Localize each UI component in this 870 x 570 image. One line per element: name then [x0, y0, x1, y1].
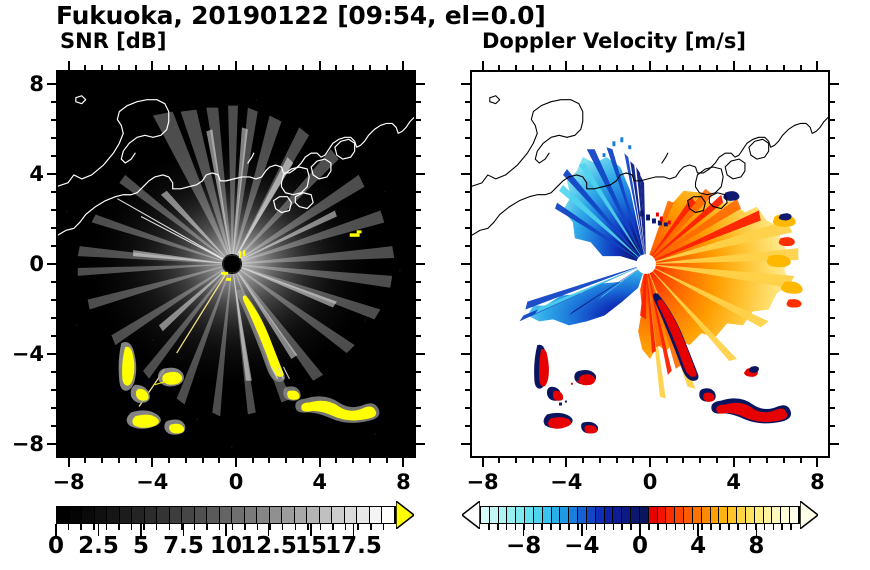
- colorbar-snr-ticklabel: 2.5: [78, 533, 119, 559]
- ytick-minor-left: [465, 281, 470, 283]
- colorbar-snr-minor-tick: [282, 524, 284, 530]
- colorbar-doppler-minor-tick: [488, 524, 490, 530]
- colorbar-doppler-minor-tick: [781, 524, 783, 530]
- ytick-minor-right: [830, 425, 835, 427]
- ytick-major-left: [461, 353, 470, 355]
- xtick-minor-top: [783, 65, 785, 70]
- colorbar-snr-minor-tick: [194, 524, 196, 530]
- colorbar-snr-minor-tick: [320, 524, 322, 530]
- colorbar-doppler-minor-tick: [675, 524, 677, 530]
- ytick-minor-left: [51, 281, 56, 283]
- colorbar-cell: [357, 507, 370, 523]
- colorbar-doppler-minor-tick: [728, 524, 730, 530]
- colorbar-cell: [640, 507, 649, 523]
- colorbar-cell: [332, 507, 345, 523]
- yticklabel: −8: [0, 432, 44, 456]
- xticklabel: −4: [136, 470, 168, 494]
- xtick-minor-top: [599, 65, 601, 70]
- xtick-minor-bottom: [352, 458, 354, 463]
- ytick-minor-right: [416, 389, 421, 391]
- yticklabel: 0: [0, 252, 44, 276]
- ytick-minor-left: [51, 425, 56, 427]
- xtick-minor-top: [616, 65, 618, 70]
- colorbar-doppler-minor-tick: [533, 524, 535, 530]
- ytick-minor-left: [465, 299, 470, 301]
- ytick-minor-left: [465, 155, 470, 157]
- colorbar-cell: [596, 507, 605, 523]
- xtick-major-bottom: [649, 458, 651, 467]
- ytick-minor-left: [51, 299, 56, 301]
- ytick-minor-left: [51, 389, 56, 391]
- colorbar-snr-minor-tick: [232, 524, 234, 530]
- ytick-minor-left: [465, 407, 470, 409]
- xtick-minor-top: [682, 65, 684, 70]
- colorbar-cell: [245, 507, 258, 523]
- xtick-minor-bottom: [616, 458, 618, 463]
- ytick-minor-left: [51, 191, 56, 193]
- xtick-minor-bottom: [532, 458, 534, 463]
- colorbar-cell: [746, 507, 755, 523]
- ytick-major-right: [830, 353, 839, 355]
- colorbar-cell: [693, 507, 702, 523]
- ytick-minor-left: [465, 371, 470, 373]
- colorbar-snr-ticklabel: 12.5: [240, 533, 297, 559]
- xtick-minor-top: [699, 65, 701, 70]
- ytick-minor-right: [416, 101, 421, 103]
- colorbar-doppler-minor-tick: [684, 524, 686, 530]
- colorbar-snr-minor-tick: [307, 524, 309, 530]
- ytick-minor-right: [830, 281, 835, 283]
- xtick-minor-bottom: [632, 458, 634, 463]
- xtick-minor-bottom: [549, 458, 551, 463]
- ytick-major-right: [830, 83, 839, 85]
- ytick-minor-left: [465, 389, 470, 391]
- ytick-minor-left: [465, 119, 470, 121]
- colorbar-snr-ticklabel: 7.5: [163, 533, 204, 559]
- colorbar-doppler-minor-tick: [621, 524, 623, 530]
- ytick-minor-right: [830, 389, 835, 391]
- xtick-minor-bottom: [101, 458, 103, 463]
- xtick-minor-bottom: [252, 458, 254, 463]
- colorbar-doppler-minor-tick: [604, 524, 606, 530]
- ytick-minor-left: [51, 317, 56, 319]
- xtick-major-bottom: [816, 458, 818, 467]
- colorbar-cell: [145, 507, 158, 523]
- ytick-major-right: [830, 443, 839, 445]
- colorbar-snr-minor-tick: [257, 524, 259, 530]
- xtick-minor-bottom: [515, 458, 517, 463]
- colorbar-doppler-minor-tick: [595, 524, 597, 530]
- colorbar-doppler-minor-tick: [515, 524, 517, 530]
- colorbar-cell: [675, 507, 684, 523]
- ytick-minor-right: [830, 227, 835, 229]
- xtick-minor-top: [800, 65, 802, 70]
- colorbar-doppler-minor-tick: [630, 524, 632, 530]
- colorbar-snr-minor-tick: [106, 524, 108, 530]
- colorbar-cell: [569, 507, 578, 523]
- colorbar-doppler-minor-tick: [577, 524, 579, 530]
- colorbar-cell: [552, 507, 561, 523]
- colorbar-cell: [82, 507, 95, 523]
- ytick-minor-right: [830, 335, 835, 337]
- colorbar-snr-minor-tick: [269, 524, 271, 530]
- colorbar-doppler-minor-tick: [613, 524, 615, 530]
- colorbar-cell: [525, 507, 534, 523]
- colorbar-cell: [534, 507, 543, 523]
- xtick-minor-bottom: [302, 458, 304, 463]
- xticklabel: 0: [229, 470, 244, 494]
- colorbar-cell: [622, 507, 631, 523]
- xtick-minor-top: [549, 65, 551, 70]
- xtick-minor-top: [84, 65, 86, 70]
- colorbar-cell: [605, 507, 614, 523]
- colorbar-doppler-minor-tick: [568, 524, 570, 530]
- xtick-major-bottom: [235, 458, 237, 467]
- colorbar-doppler-ticklabel: 0: [632, 533, 648, 559]
- colorbar-snr-gradient: [56, 506, 396, 524]
- xtick-minor-top: [369, 65, 371, 70]
- colorbar-cell: [560, 507, 569, 523]
- ytick-major-left: [47, 173, 56, 175]
- xtick-minor-bottom: [766, 458, 768, 463]
- colorbar-doppler-minor-tick: [559, 524, 561, 530]
- colorbar-doppler-minor-tick: [719, 524, 721, 530]
- colorbar-cell: [578, 507, 587, 523]
- xtick-minor-top: [202, 65, 204, 70]
- colorbar-snr-ticklabel: 5: [133, 533, 149, 559]
- colorbar-snr-ticklabel: 15: [295, 533, 327, 559]
- ytick-minor-left: [51, 371, 56, 373]
- xtick-minor-bottom: [135, 458, 137, 463]
- xtick-minor-top: [386, 65, 388, 70]
- colorbar-doppler-ticklabel: −8: [506, 533, 541, 559]
- colorbar-cell: [499, 507, 508, 523]
- colorbar-cell: [790, 507, 799, 523]
- ytick-minor-right: [416, 227, 421, 229]
- ytick-major-left: [47, 263, 56, 265]
- ytick-minor-left: [51, 407, 56, 409]
- colorbar-doppler-minor-tick: [541, 524, 543, 530]
- xticklabel: −8: [466, 470, 498, 494]
- ytick-minor-left: [465, 209, 470, 211]
- ytick-minor-left: [465, 317, 470, 319]
- colorbar-doppler-minor-tick: [506, 524, 508, 530]
- xtick-major-bottom: [482, 458, 484, 467]
- xtick-minor-bottom: [386, 458, 388, 463]
- colorbar-cell: [295, 507, 308, 523]
- xtick-major-bottom: [733, 458, 735, 467]
- xticklabel: 4: [726, 470, 741, 494]
- colorbar-doppler-minor-tick: [693, 524, 695, 530]
- colorbar-cell: [257, 507, 270, 523]
- colorbar-cell: [631, 507, 640, 523]
- xtick-minor-bottom: [783, 458, 785, 463]
- xtick-minor-top: [532, 65, 534, 70]
- ytick-minor-right: [830, 299, 835, 301]
- ytick-minor-left: [51, 137, 56, 139]
- xtick-minor-bottom: [666, 458, 668, 463]
- colorbar-doppler-minor-tick: [773, 524, 775, 530]
- yticklabel: 4: [0, 162, 44, 186]
- ytick-major-right: [416, 83, 425, 85]
- colorbar-snr-minor-tick: [345, 524, 347, 530]
- xticklabel: 0: [643, 470, 658, 494]
- colorbar-doppler-minor-tick: [648, 524, 650, 530]
- xticklabel: 8: [396, 470, 411, 494]
- colorbar-cell: [737, 507, 746, 523]
- ytick-major-right: [416, 353, 425, 355]
- ytick-minor-right: [416, 245, 421, 247]
- xtick-minor-top: [168, 65, 170, 70]
- colorbar-cell: [182, 507, 195, 523]
- ytick-major-right: [416, 443, 425, 445]
- xtick-minor-top: [135, 65, 137, 70]
- ytick-major-left: [47, 443, 56, 445]
- colorbar-cell: [613, 507, 622, 523]
- colorbar-cell: [755, 507, 764, 523]
- colorbar-snr-ticklabel: 10: [210, 533, 242, 559]
- yticklabel: −4: [0, 342, 44, 366]
- colorbar-snr-ticklabel: 0: [48, 533, 64, 559]
- colorbar-doppler[interactable]: [0, 0, 870, 64]
- colorbar-cell: [220, 507, 233, 523]
- ytick-major-right: [416, 263, 425, 265]
- colorbar-doppler-minor-tick: [737, 524, 739, 530]
- colorbar-snr-minor-tick: [219, 524, 221, 530]
- ytick-minor-left: [51, 155, 56, 157]
- colorbar-snr-minor-tick: [131, 524, 133, 530]
- ytick-major-right: [830, 173, 839, 175]
- ytick-minor-right: [416, 155, 421, 157]
- ytick-minor-right: [416, 191, 421, 193]
- colorbar-cell: [772, 507, 781, 523]
- ytick-minor-left: [465, 101, 470, 103]
- ytick-minor-left: [465, 335, 470, 337]
- colorbar-cell: [516, 507, 525, 523]
- doppler-data-layer: [472, 72, 828, 456]
- colorbar-snr-minor-tick: [357, 524, 359, 530]
- xtick-minor-bottom: [118, 458, 120, 463]
- colorbar-snr-minor-tick: [118, 524, 120, 530]
- colorbar-snr-minor-tick: [80, 524, 82, 530]
- xtick-minor-bottom: [202, 458, 204, 463]
- colorbar-cell: [702, 507, 711, 523]
- xtick-minor-top: [582, 65, 584, 70]
- ytick-major-left: [461, 443, 470, 445]
- radar-figure: Fukuoka, 20190122 [09:54, el=0.0] SNR [d…: [0, 0, 870, 570]
- xtick-minor-top: [749, 65, 751, 70]
- ytick-minor-right: [416, 137, 421, 139]
- xticklabel: −8: [52, 470, 84, 494]
- xtick-minor-bottom: [749, 458, 751, 463]
- xtick-minor-bottom: [285, 458, 287, 463]
- colorbar-cell: [719, 507, 728, 523]
- colorbar-cell: [120, 507, 133, 523]
- xtick-minor-top: [716, 65, 718, 70]
- colorbar-doppler-minor-tick: [657, 524, 659, 530]
- ytick-minor-right: [830, 407, 835, 409]
- colorbar-doppler-ticklabel: −4: [564, 533, 599, 559]
- xtick-minor-top: [218, 65, 220, 70]
- colorbar-doppler-minor-tick: [790, 524, 792, 530]
- colorbar-snr-minor-tick: [68, 524, 70, 530]
- xtick-minor-bottom: [800, 458, 802, 463]
- xtick-minor-top: [666, 65, 668, 70]
- xtick-minor-top: [285, 65, 287, 70]
- ytick-major-left: [47, 353, 56, 355]
- xticklabel: 8: [810, 470, 825, 494]
- xtick-minor-bottom: [498, 458, 500, 463]
- ytick-minor-left: [51, 335, 56, 337]
- xtick-minor-bottom: [84, 458, 86, 463]
- colorbar-cell: [728, 507, 737, 523]
- colorbar-snr-ticklabel: 17.5: [325, 533, 382, 559]
- xtick-minor-top: [632, 65, 634, 70]
- colorbar-doppler-gradient: [480, 506, 800, 524]
- colorbar-cell: [370, 507, 383, 523]
- xtick-major-bottom: [151, 458, 153, 467]
- plot-area-doppler[interactable]: [470, 70, 830, 458]
- colorbar-cell: [490, 507, 499, 523]
- xtick-minor-top: [185, 65, 187, 70]
- ytick-minor-left: [51, 101, 56, 103]
- xtick-minor-bottom: [168, 458, 170, 463]
- colorbar-cell: [481, 507, 490, 523]
- colorbar-snr-minor-tick: [169, 524, 171, 530]
- colorbar-cell: [207, 507, 220, 523]
- xtick-major-bottom: [68, 458, 70, 467]
- xtick-minor-top: [515, 65, 517, 70]
- colorbar-snr-minor-tick: [156, 524, 158, 530]
- ytick-minor-right: [830, 119, 835, 121]
- colorbar-cell: [587, 507, 596, 523]
- ytick-minor-right: [416, 317, 421, 319]
- colorbar-cell: [320, 507, 333, 523]
- ytick-major-right: [830, 263, 839, 265]
- ytick-minor-right: [416, 371, 421, 373]
- colorbar-doppler-minor-tick: [701, 524, 703, 530]
- xtick-minor-bottom: [682, 458, 684, 463]
- colorbar-snr-minor-tick: [295, 524, 297, 530]
- ytick-minor-right: [416, 425, 421, 427]
- xtick-major-bottom: [319, 458, 321, 467]
- ytick-minor-left: [51, 245, 56, 247]
- colorbar-doppler-extend-min-arrow: [462, 501, 480, 533]
- colorbar-cell: [282, 507, 295, 523]
- ytick-minor-right: [830, 209, 835, 211]
- ytick-minor-right: [830, 137, 835, 139]
- xtick-minor-bottom: [335, 458, 337, 463]
- xtick-minor-top: [335, 65, 337, 70]
- colorbar-snr-minor-tick: [206, 524, 208, 530]
- ytick-minor-left: [465, 137, 470, 139]
- colorbar-cell: [345, 507, 358, 523]
- xtick-minor-bottom: [716, 458, 718, 463]
- ytick-minor-left: [465, 227, 470, 229]
- snr-data-layer: [58, 72, 414, 456]
- ytick-minor-right: [830, 317, 835, 319]
- colorbar-snr-extend-max-arrow: [396, 501, 414, 533]
- colorbar-snr-minor-tick: [244, 524, 246, 530]
- ytick-minor-right: [416, 209, 421, 211]
- colorbar-snr-minor-tick: [383, 524, 385, 530]
- ytick-minor-left: [51, 119, 56, 121]
- colorbar-cell: [543, 507, 552, 523]
- ytick-minor-right: [830, 245, 835, 247]
- colorbar-cell: [684, 507, 693, 523]
- ytick-minor-left: [465, 191, 470, 193]
- colorbar-doppler-minor-tick: [746, 524, 748, 530]
- xtick-minor-bottom: [699, 458, 701, 463]
- xtick-minor-bottom: [218, 458, 220, 463]
- ytick-minor-right: [416, 335, 421, 337]
- colorbar-cell: [107, 507, 120, 523]
- colorbar-cell: [157, 507, 170, 523]
- ytick-minor-left: [51, 227, 56, 229]
- colorbar-cell: [270, 507, 283, 523]
- colorbar-cell: [764, 507, 773, 523]
- colorbar-doppler-ticklabel: 4: [690, 533, 706, 559]
- xtick-minor-bottom: [185, 458, 187, 463]
- ytick-minor-right: [416, 407, 421, 409]
- xtick-minor-top: [352, 65, 354, 70]
- snr-canvas: [58, 72, 414, 456]
- xtick-minor-bottom: [582, 458, 584, 463]
- colorbar-cell: [307, 507, 320, 523]
- colorbar-doppler-ticklabel: 8: [748, 533, 764, 559]
- xtick-minor-bottom: [369, 458, 371, 463]
- ytick-major-left: [461, 263, 470, 265]
- colorbar-cell: [95, 507, 108, 523]
- ytick-major-left: [461, 173, 470, 175]
- xticklabel: 4: [312, 470, 327, 494]
- ytick-minor-left: [465, 245, 470, 247]
- colorbar-doppler-minor-tick: [586, 524, 588, 530]
- yticklabel: 8: [0, 72, 44, 96]
- colorbar-cell: [649, 507, 658, 523]
- colorbar-doppler-extend-max-arrow: [800, 501, 818, 533]
- colorbar-doppler-minor-tick: [710, 524, 712, 530]
- ytick-minor-right: [830, 155, 835, 157]
- colorbar-doppler-minor-tick: [497, 524, 499, 530]
- xtick-minor-top: [252, 65, 254, 70]
- ytick-minor-right: [416, 299, 421, 301]
- ytick-minor-right: [416, 119, 421, 121]
- colorbar-cell: [781, 507, 790, 523]
- ytick-minor-right: [830, 191, 835, 193]
- xtick-minor-bottom: [268, 458, 270, 463]
- ytick-major-left: [47, 83, 56, 85]
- xtick-major-bottom: [565, 458, 567, 467]
- colorbar-doppler-minor-tick: [666, 524, 668, 530]
- colorbar-cell: [195, 507, 208, 523]
- colorbar-cell: [57, 507, 70, 523]
- xtick-major-bottom: [402, 458, 404, 467]
- xtick-minor-top: [118, 65, 120, 70]
- colorbar-cell: [170, 507, 183, 523]
- doppler-canvas: [472, 72, 828, 456]
- ytick-major-right: [416, 173, 425, 175]
- xtick-minor-top: [766, 65, 768, 70]
- ytick-minor-left: [465, 425, 470, 427]
- ytick-minor-right: [416, 281, 421, 283]
- xtick-minor-top: [101, 65, 103, 70]
- colorbar-cell: [70, 507, 83, 523]
- colorbar-snr-minor-tick: [332, 524, 334, 530]
- ytick-minor-right: [830, 371, 835, 373]
- ytick-minor-right: [830, 101, 835, 103]
- plot-area-snr[interactable]: [56, 70, 416, 458]
